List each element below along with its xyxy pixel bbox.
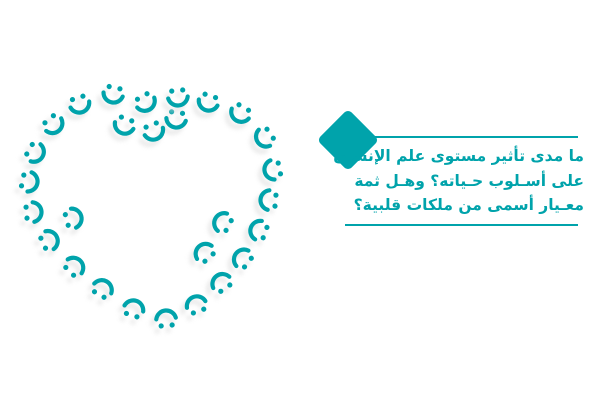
quote-bottom-rule	[345, 224, 578, 226]
quote-block: ما مدى تأثير مستوى علم الإنسان على أسـلو…	[322, 112, 584, 240]
quote-line-3: معـيار أسمى من ملكات قلبية؟	[336, 193, 584, 218]
smiley-face-icon	[159, 79, 196, 116]
heart-of-smileys-graphic	[18, 70, 318, 335]
quote-line-1: ما مدى تأثير مستوى علم الإنسان	[336, 144, 584, 169]
quote-line-2: على أسـلوب حـياته؟ وهـل ثمة	[336, 169, 584, 194]
quote-text: ما مدى تأثير مستوى علم الإنسان على أسـلو…	[336, 144, 584, 218]
quote-top-rule	[366, 136, 578, 138]
poster-canvas: ما مدى تأثير مستوى علم الإنسان على أسـلو…	[0, 0, 600, 400]
